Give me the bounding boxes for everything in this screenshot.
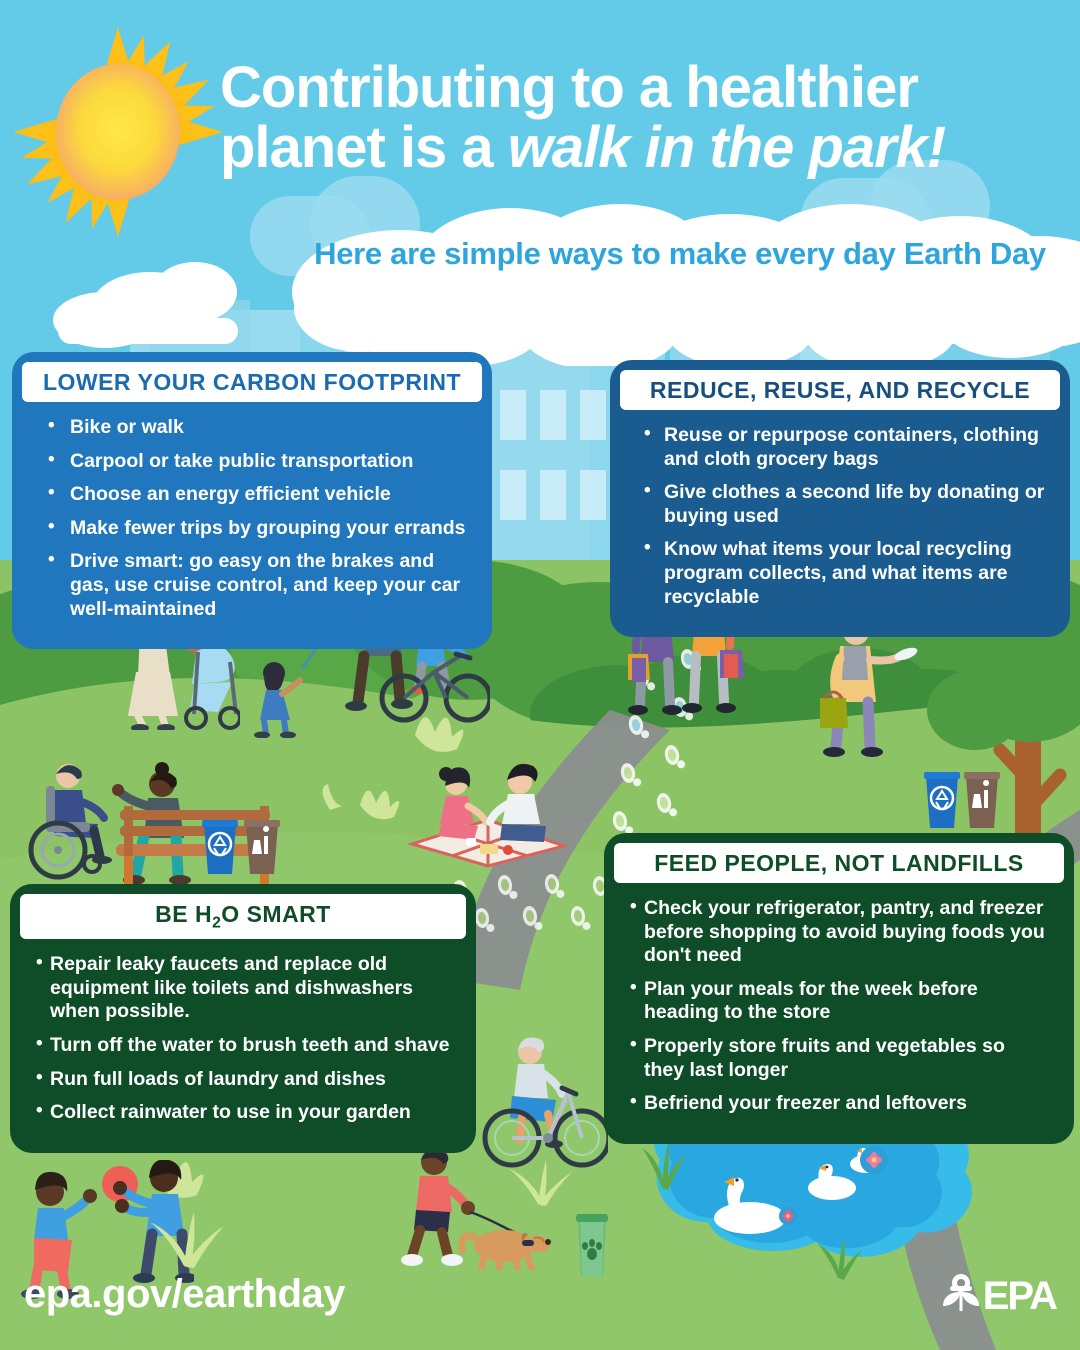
epa-logo: EPA	[941, 1272, 1056, 1321]
footer-url[interactable]: epa.gov/earthday	[24, 1272, 345, 1317]
epa-seal-icon	[941, 1272, 981, 1321]
list-item: Befriend your freezer and leftovers	[630, 1092, 1050, 1116]
trash-bin-right	[962, 770, 1002, 837]
trash-bin	[242, 818, 282, 883]
list-item: Plan your meals for the week before head…	[630, 978, 1050, 1025]
card-be-h2o-smart[interactable]: BE H2O SMART Repair leaky faucets and re…	[10, 884, 476, 1153]
headline-line-1: Contributing to a healthier	[220, 58, 1060, 118]
epa-logo-text: EPA	[983, 1274, 1056, 1319]
list-item: Check your refrigerator, pantry, and fre…	[630, 897, 1050, 968]
infographic-poster: Contributing to a healthier planet is a …	[0, 0, 1080, 1350]
dog-waste-station	[572, 1210, 612, 1285]
headline-italic: walk in the park!	[508, 115, 945, 180]
card-title-water-suffix: O SMART	[221, 901, 331, 927]
list-item: Carpool or take public transportation	[48, 450, 468, 474]
list-item: Drive smart: go easy on the brakes and g…	[48, 550, 468, 621]
headline-plain: planet is a	[220, 115, 508, 180]
recycling-bin	[200, 818, 240, 883]
card-list-water: Repair leaky faucets and replace old equ…	[20, 953, 466, 1125]
card-title-recycle: REDUCE, REUSE, AND RECYCLE	[620, 370, 1060, 410]
card-feed-people-not-landfills[interactable]: FEED PEOPLE, NOT LANDFILLS Check your re…	[604, 833, 1074, 1144]
card-reduce-reuse-recycle[interactable]: REDUCE, REUSE, AND RECYCLE Reuse or repu…	[610, 360, 1070, 637]
list-item: Make fewer trips by grouping your errand…	[48, 517, 468, 541]
list-item: Run full loads of laundry and dishes	[36, 1068, 452, 1092]
card-lower-carbon-footprint[interactable]: LOWER YOUR CARBON FOOTPRINT Bike or walk…	[12, 352, 492, 649]
card-list-recycle: Reuse or repurpose containers, clothing …	[620, 424, 1060, 609]
card-title-water-subscript: 2	[212, 915, 221, 932]
picnic-couple	[408, 758, 568, 873]
list-item: Know what items your local recycling pro…	[644, 538, 1046, 609]
swans	[690, 1140, 910, 1265]
list-item: Collect rainwater to use in your garden	[36, 1101, 452, 1125]
headline-line-2: planet is a walk in the park!	[220, 118, 1060, 178]
list-item: Turn off the water to brush teeth and sh…	[36, 1034, 452, 1058]
card-title-water: BE H2O SMART	[20, 894, 466, 939]
card-title-food: FEED PEOPLE, NOT LANDFILLS	[614, 843, 1064, 883]
card-list-carbon: Bike or walk Carpool or take public tran…	[22, 416, 482, 621]
card-title-carbon: LOWER YOUR CARBON FOOTPRINT	[22, 362, 482, 402]
list-item: Reuse or repurpose containers, clothing …	[644, 424, 1046, 471]
list-item: Choose an energy efficient vehicle	[48, 483, 468, 507]
subheadline: Here are simple ways to make every day E…	[300, 236, 1060, 272]
page-title: Contributing to a healthier planet is a …	[220, 58, 1060, 179]
list-item: Bike or walk	[48, 416, 468, 440]
list-item: Repair leaky faucets and replace old equ…	[36, 953, 452, 1024]
recycling-bin-right	[922, 770, 962, 837]
list-item: Give clothes a second life by donating o…	[644, 481, 1046, 528]
card-list-food: Check your refrigerator, pantry, and fre…	[614, 897, 1064, 1116]
card-title-water-prefix: BE H	[155, 901, 212, 927]
list-item: Properly store fruits and vegetables so …	[630, 1035, 1050, 1082]
